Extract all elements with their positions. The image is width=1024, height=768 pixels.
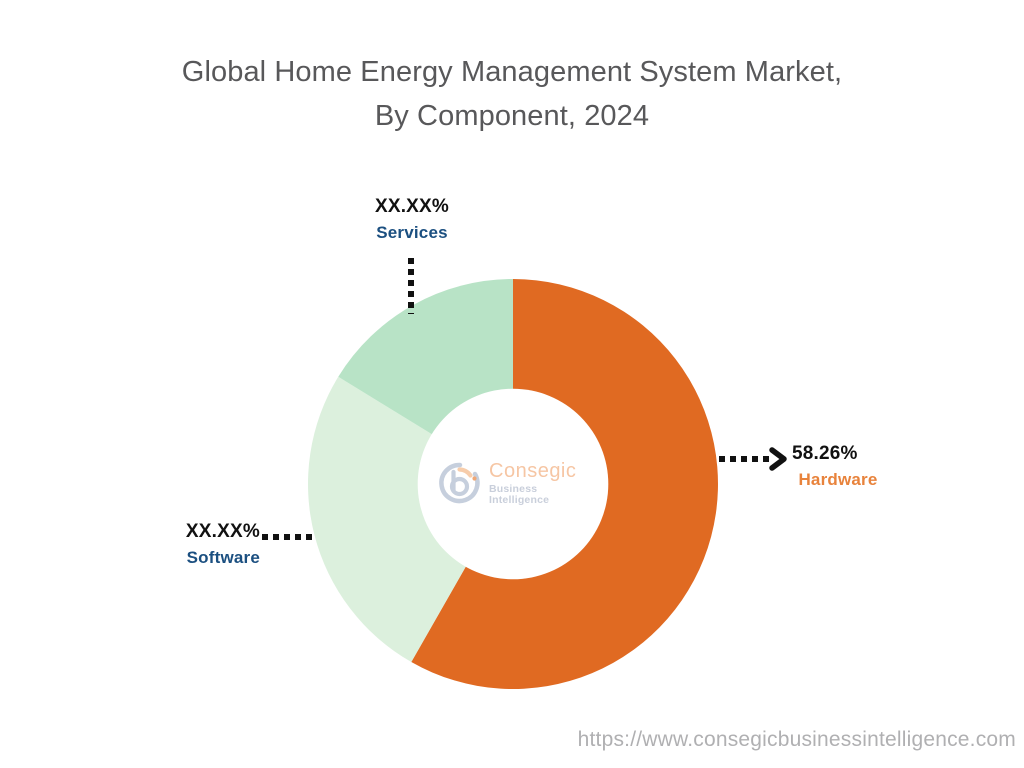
callout-hardware: 58.26% Hardware (792, 443, 952, 490)
callout-software-label: Software (150, 548, 260, 568)
donut-chart (308, 279, 718, 689)
callout-hardware-label: Hardware (792, 470, 884, 490)
page-title-line-2: By Component, 2024 (0, 94, 1024, 138)
callout-services-percent: XX.XX% (327, 196, 497, 218)
page-title: Global Home Energy Management System Mar… (0, 50, 1024, 138)
callout-software: XX.XX% Software (150, 521, 260, 568)
donut-chart-svg (308, 279, 718, 689)
leader-line-software (262, 534, 312, 540)
page-title-line-1: Global Home Energy Management System Mar… (0, 50, 1024, 94)
leader-line-services (408, 258, 414, 314)
callout-software-percent: XX.XX% (150, 521, 260, 543)
leader-arrow-hardware-icon (718, 446, 792, 472)
donut-center-hole (418, 389, 609, 580)
callout-services: XX.XX% Services (327, 196, 497, 243)
leader-line-hardware (718, 446, 792, 472)
callout-hardware-percent: 58.26% (792, 443, 952, 465)
callout-services-label: Services (327, 223, 497, 243)
footer-source-url[interactable]: https://www.consegicbusinessintelligence… (578, 728, 1016, 752)
